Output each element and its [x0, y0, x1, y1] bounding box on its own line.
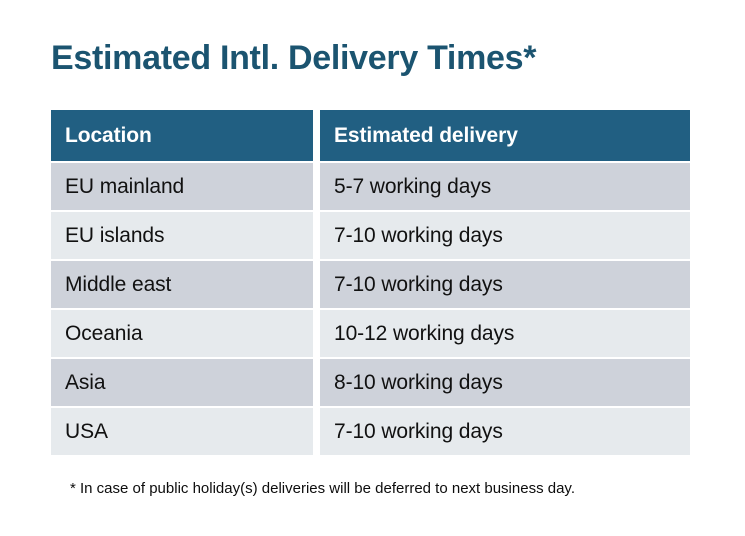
cell-location: Middle east	[51, 261, 313, 308]
table-row: USA 7-10 working days	[51, 408, 690, 455]
table-row: EU islands 7-10 working days	[51, 212, 690, 259]
table-header-row: Location Estimated delivery	[51, 110, 690, 161]
cell-estimated-delivery: 7-10 working days	[320, 408, 690, 455]
page-title: Estimated Intl. Delivery Times*	[51, 36, 536, 80]
cell-estimated-delivery: 10-12 working days	[320, 310, 690, 357]
table-row: EU mainland 5-7 working days	[51, 163, 690, 210]
footnote-text: * In case of public holiday(s) deliverie…	[70, 479, 575, 499]
cell-location: EU mainland	[51, 163, 313, 210]
cell-estimated-delivery: 8-10 working days	[320, 359, 690, 406]
cell-estimated-delivery: 7-10 working days	[320, 212, 690, 259]
cell-location: EU islands	[51, 212, 313, 259]
cell-location: Asia	[51, 359, 313, 406]
table-row: Oceania 10-12 working days	[51, 310, 690, 357]
delivery-times-table: Location Estimated delivery EU mainland …	[51, 110, 690, 457]
cell-estimated-delivery: 5-7 working days	[320, 163, 690, 210]
cell-estimated-delivery: 7-10 working days	[320, 261, 690, 308]
delivery-times-infographic: Estimated Intl. Delivery Times* Location…	[0, 0, 745, 536]
column-header-estimated-delivery: Estimated delivery	[320, 110, 690, 161]
cell-location: USA	[51, 408, 313, 455]
table-row: Asia 8-10 working days	[51, 359, 690, 406]
cell-location: Oceania	[51, 310, 313, 357]
column-header-location: Location	[51, 110, 313, 161]
table-row: Middle east 7-10 working days	[51, 261, 690, 308]
